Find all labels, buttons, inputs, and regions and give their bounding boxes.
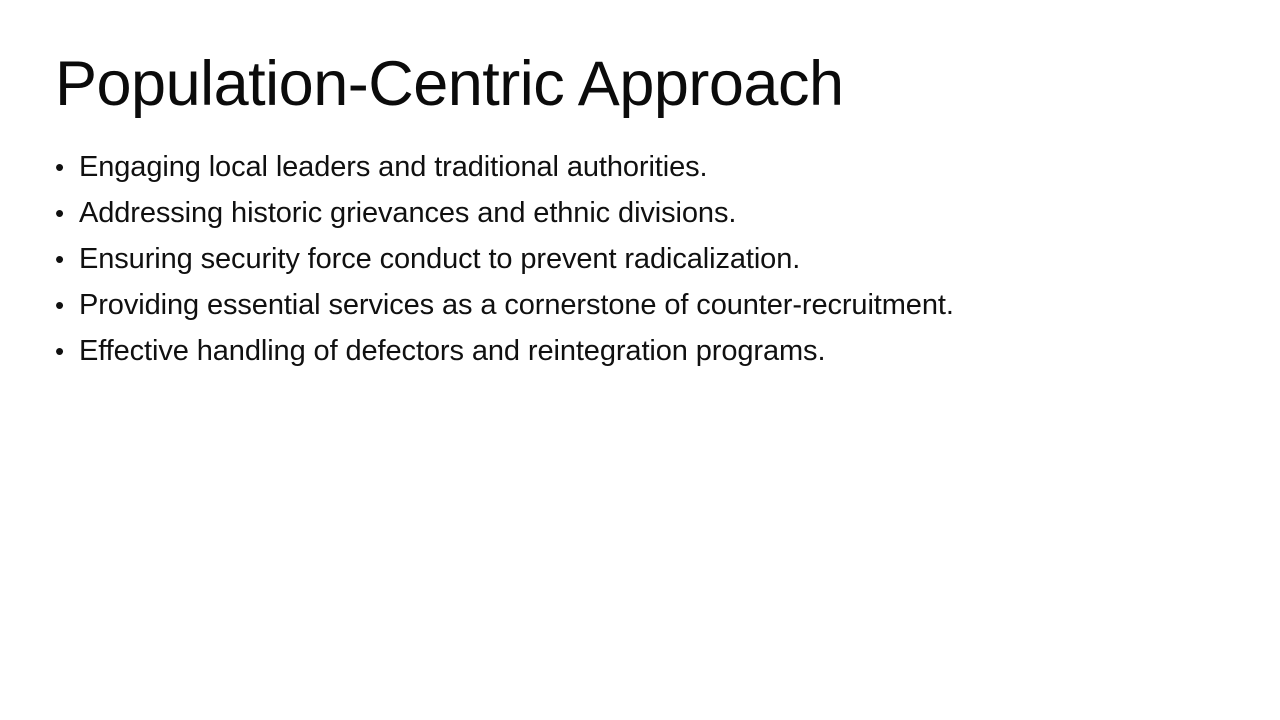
list-item-label: Providing essential services as a corner… [79, 282, 954, 328]
list-item-label: Engaging local leaders and traditional a… [79, 144, 707, 190]
bullet-dot-icon: • [55, 144, 79, 190]
list-item: • Addressing historic grievances and eth… [55, 190, 1235, 236]
list-item: • Providing essential services as a corn… [55, 282, 1235, 328]
bullet-dot-icon: • [55, 190, 79, 236]
list-item: • Engaging local leaders and traditional… [55, 144, 1235, 190]
slide-canvas: Population-Centric Approach • Engaging l… [0, 0, 1280, 720]
list-item-label: Ensuring security force conduct to preve… [79, 236, 800, 282]
page-title: Population-Centric Approach [55, 48, 844, 121]
list-item-label: Addressing historic grievances and ethni… [79, 190, 736, 236]
bullet-list: • Engaging local leaders and traditional… [55, 144, 1235, 374]
list-item: • Effective handling of defectors and re… [55, 328, 1235, 374]
bullet-dot-icon: • [55, 282, 79, 328]
list-item-label: Effective handling of defectors and rein… [79, 328, 825, 374]
list-item: • Ensuring security force conduct to pre… [55, 236, 1235, 282]
bullet-dot-icon: • [55, 328, 79, 374]
bullet-dot-icon: • [55, 236, 79, 282]
